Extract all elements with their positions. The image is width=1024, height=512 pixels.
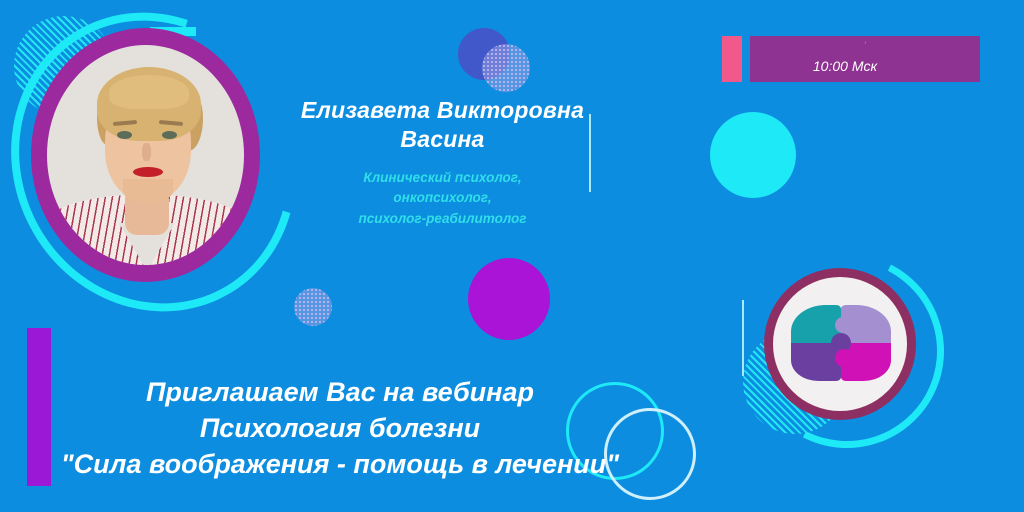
avatar: [47, 45, 244, 265]
speaker-role-line-2: онкопсихолог,: [300, 188, 585, 208]
cyan-circle-right: [710, 112, 796, 198]
lavender-dotted-circle-top: [482, 44, 530, 92]
portrait-lips: [133, 167, 163, 177]
headline-line-1: Приглашаем Вас на вебинар: [40, 374, 640, 410]
speaker-name: Елизавета Викторовна Васина: [300, 96, 585, 154]
purple-circle-middle: [468, 258, 550, 340]
speaker-name-line-1: Елизавета Викторовна: [300, 96, 585, 125]
portrait-eye-left: [117, 131, 132, 139]
speaker-role-line-1: Клинический психолог,: [300, 168, 585, 188]
lavender-dotted-circle-middle: [294, 288, 332, 326]
banner-time: 10:00 Мск: [750, 58, 940, 74]
puzzle-knob-top: [835, 317, 851, 333]
webinar-poster: Елизавета Викторовна Васина Клинический …: [0, 0, 1024, 512]
time-banner: ' 10:00 Мск: [750, 36, 980, 82]
portrait-fringe: [109, 75, 189, 109]
portrait-nose: [142, 143, 151, 161]
portrait-chin: [123, 179, 173, 203]
speaker-role: Клинический психолог, онкопсихолог, псих…: [300, 168, 585, 229]
page-title: Приглашаем Вас на вебинар Психология бол…: [40, 374, 640, 483]
speaker-name-line-2: Васина: [300, 125, 585, 154]
puzzle-knob-bottom: [835, 349, 853, 367]
brain-puzzle-icon: [764, 268, 916, 420]
portrait-eye-right: [162, 131, 177, 139]
headline-line-2: Психология болезни: [40, 410, 640, 446]
speaker-photo-block: [31, 28, 260, 282]
pink-accent-bar: [722, 36, 742, 82]
headline-line-3: "Сила воображения - помощь в лечении": [40, 446, 640, 482]
thin-vertical-line-right: [742, 300, 744, 376]
logo-inner-circle: [773, 277, 907, 411]
thin-vertical-line-center: [589, 114, 591, 192]
speaker-role-line-3: психолог-реабилитолог: [300, 209, 585, 229]
banner-date-faded: ': [750, 40, 980, 52]
